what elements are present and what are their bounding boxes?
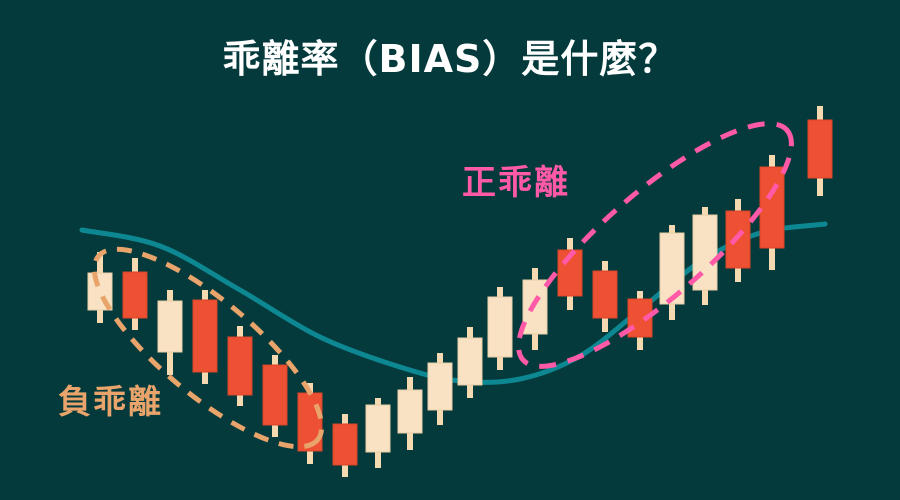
candle bbox=[263, 355, 287, 437]
candle-body bbox=[488, 297, 512, 357]
candle bbox=[333, 414, 357, 477]
candle bbox=[228, 326, 252, 406]
candle bbox=[428, 353, 452, 425]
candle-layer bbox=[88, 106, 832, 477]
candle-body bbox=[428, 363, 452, 410]
candle-body bbox=[333, 424, 357, 465]
candle bbox=[808, 106, 832, 196]
bias-infographic: 乖離率（BIAS）是什麼？ 正乖離 負乖離 bbox=[0, 0, 900, 500]
positive-bias-label: 正乖離 bbox=[462, 163, 570, 203]
candle bbox=[760, 155, 784, 270]
candle-body bbox=[228, 337, 252, 395]
candle bbox=[593, 261, 617, 332]
candle bbox=[628, 291, 652, 350]
negative-bias-label: 負乖離 bbox=[58, 382, 163, 422]
candle bbox=[458, 327, 482, 398]
candle-body bbox=[760, 167, 784, 248]
candle bbox=[558, 238, 582, 310]
candle bbox=[88, 252, 112, 323]
candle-body bbox=[593, 271, 617, 318]
candle bbox=[398, 377, 422, 450]
candle bbox=[366, 398, 390, 468]
candle bbox=[298, 383, 322, 464]
candle-body bbox=[263, 365, 287, 425]
candle-body bbox=[158, 301, 182, 352]
candle-body bbox=[458, 338, 482, 385]
candle-body bbox=[366, 405, 390, 452]
candle bbox=[726, 199, 750, 282]
candle bbox=[660, 225, 684, 320]
candle bbox=[158, 290, 182, 375]
page-title: 乖離率（BIAS）是什麼？ bbox=[0, 36, 900, 82]
candle-body bbox=[193, 300, 217, 372]
candle bbox=[123, 258, 147, 330]
candle bbox=[193, 290, 217, 384]
candle bbox=[523, 268, 547, 350]
candle bbox=[488, 287, 512, 370]
candle bbox=[693, 207, 717, 305]
candle-body bbox=[123, 272, 147, 318]
candle-body bbox=[808, 120, 832, 178]
candle-body bbox=[398, 390, 422, 433]
